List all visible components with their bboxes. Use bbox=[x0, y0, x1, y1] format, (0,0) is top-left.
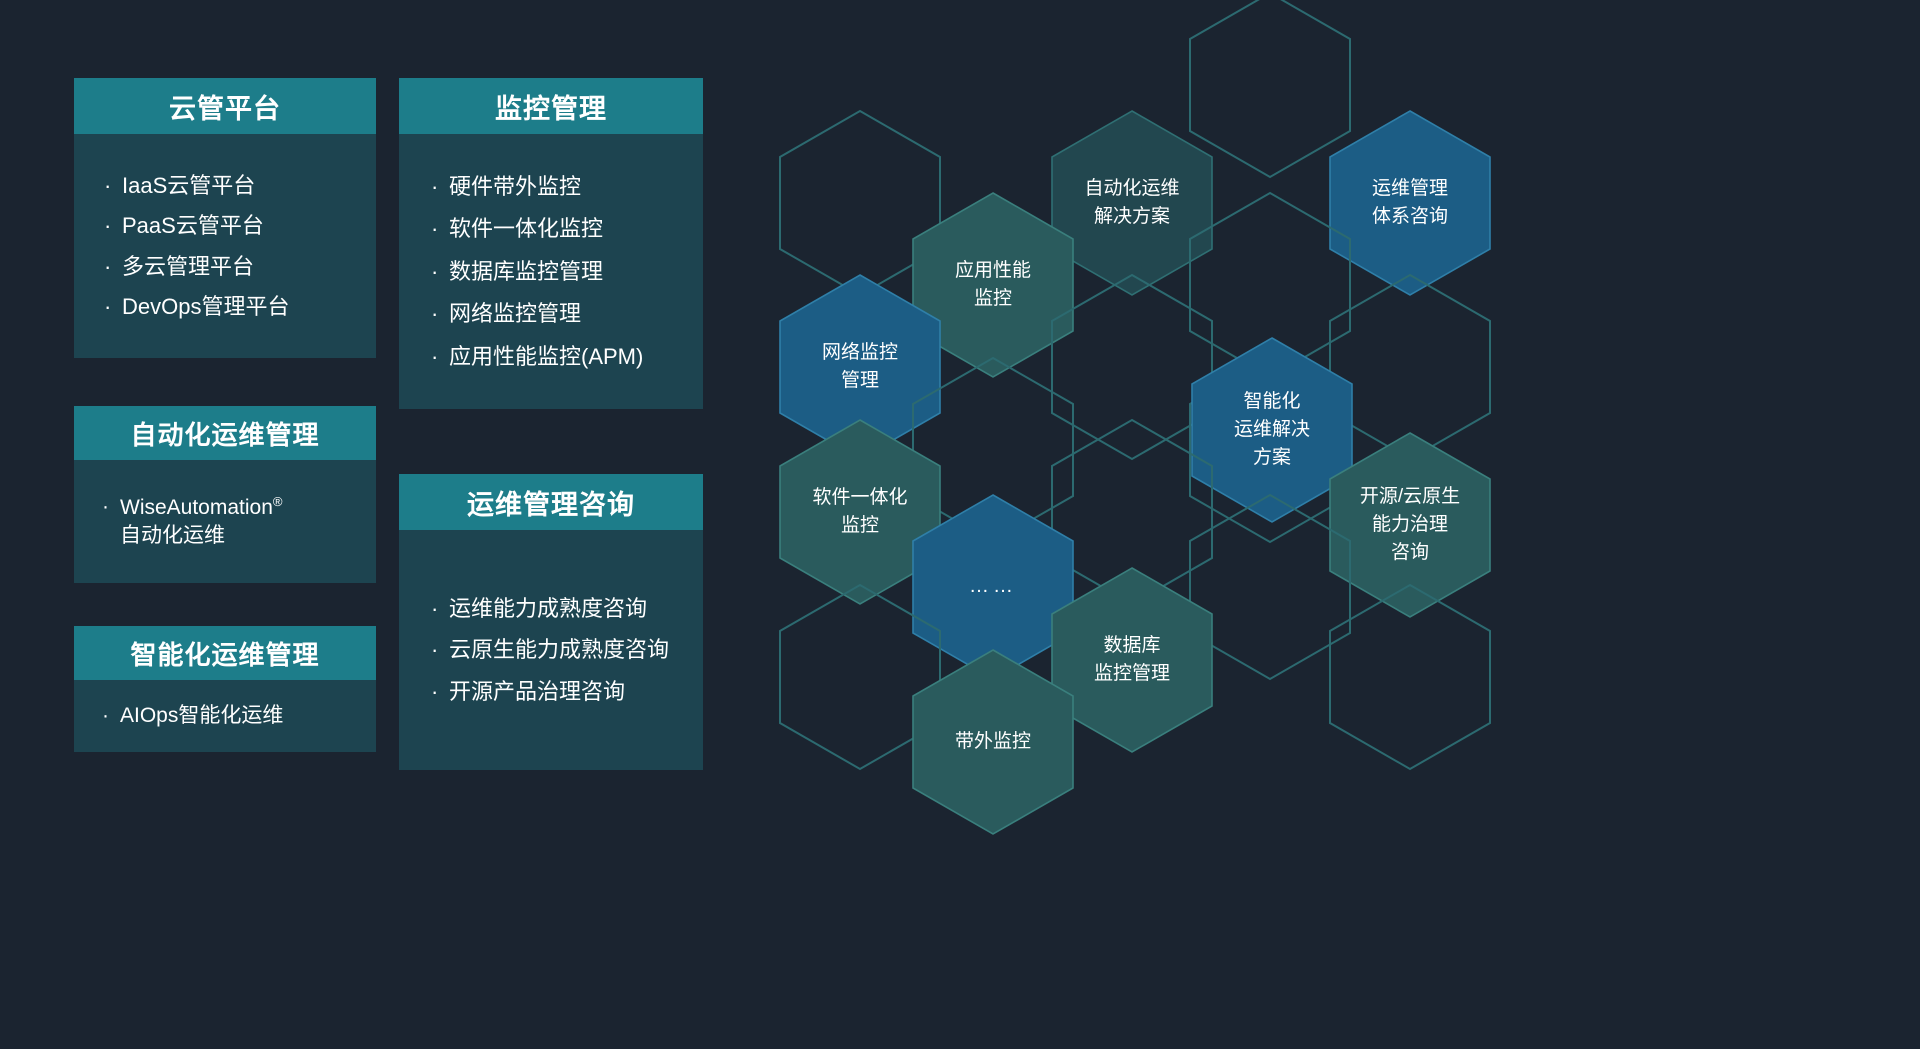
list-item-label: 数据库监控管理 bbox=[449, 259, 603, 284]
hex-empty-top-right bbox=[1190, 0, 1350, 177]
hex-ops-management-consulting[interactable] bbox=[1330, 111, 1490, 295]
card-cloud-platform-body: ·IaaS云管平台 ·PaaS云管平台 ·多云管理平台 ·DevOps管理平台 bbox=[74, 134, 376, 358]
hex-out-of-band-monitor[interactable] bbox=[913, 650, 1073, 834]
hexagon-grid-svg bbox=[760, 0, 1920, 1044]
hex-opensource-consulting[interactable] bbox=[1330, 433, 1490, 617]
list-item: ·云原生能力成熟度咨询 bbox=[427, 635, 689, 664]
card-aiops-management-body: ·AIOps智能化运维 bbox=[74, 680, 376, 752]
hex-database-monitor[interactable] bbox=[1052, 568, 1212, 752]
list-item: ·网络监控管理 bbox=[427, 299, 689, 328]
list-item-label: WiseAutomation bbox=[120, 496, 273, 519]
card-cloud-platform-title: 云管平台 bbox=[74, 78, 376, 134]
list-item: ·PaaS云管平台 bbox=[100, 211, 360, 240]
card-automation-management: 自动化运维管理 · WiseAutomation® 自动化运维 bbox=[74, 406, 376, 583]
registered-trademark-icon: ® bbox=[273, 494, 283, 509]
bullet-icon: · bbox=[431, 594, 438, 623]
card-ops-consulting-body: ·运维能力成熟度咨询 ·云原生能力成熟度咨询 ·开源产品治理咨询 bbox=[399, 530, 703, 770]
hex-automation-solution[interactable] bbox=[1052, 111, 1212, 295]
list-item: ·开源产品治理咨询 bbox=[427, 677, 689, 706]
list-item-label: AIOps智能化运维 bbox=[120, 704, 283, 727]
bullet-icon: · bbox=[431, 172, 438, 201]
list-item-label-line2: 自动化运维 bbox=[120, 524, 225, 547]
list-item: ·多云管理平台 bbox=[100, 252, 360, 281]
list-item-label: 硬件带外监控 bbox=[449, 174, 581, 199]
bullet-icon: · bbox=[431, 677, 438, 706]
bullet-icon: · bbox=[431, 342, 438, 371]
bullet-icon: · bbox=[102, 493, 109, 521]
list-item: ·IaaS云管平台 bbox=[100, 171, 360, 200]
card-automation-management-body: · WiseAutomation® 自动化运维 bbox=[74, 460, 376, 583]
hex-aiops-solution[interactable] bbox=[1192, 338, 1352, 522]
ops-consulting-list: ·运维能力成熟度咨询 ·云原生能力成熟度咨询 ·开源产品治理咨询 bbox=[427, 582, 689, 718]
list-item-label: 运维能力成熟度咨询 bbox=[449, 596, 647, 621]
list-item-label: DevOps管理平台 bbox=[122, 294, 289, 319]
hex-empty-mid-b bbox=[1052, 275, 1212, 459]
list-item: ·硬件带外监控 bbox=[427, 172, 689, 201]
list-item-label: 多云管理平台 bbox=[122, 254, 254, 279]
hex-empty-low-b bbox=[1190, 495, 1350, 679]
card-aiops-management: 智能化运维管理 ·AIOps智能化运维 bbox=[74, 626, 376, 752]
bullet-icon: · bbox=[431, 635, 438, 664]
list-item: ·DevOps管理平台 bbox=[100, 292, 360, 321]
aiops-management-list: ·AIOps智能化运维 bbox=[98, 702, 362, 730]
list-item: ·应用性能监控(APM) bbox=[427, 342, 689, 371]
hexagon-diagram: 自动化运维 解决方案运维管理 体系咨询应用性能 监控网络监控 管理智能化 运维解… bbox=[760, 0, 1920, 1044]
slide-canvas: 云管平台 ·IaaS云管平台 ·PaaS云管平台 ·多云管理平台 ·DevOps… bbox=[0, 0, 1920, 1044]
list-item-label: 软件一体化监控 bbox=[449, 216, 603, 241]
card-automation-management-title: 自动化运维管理 bbox=[74, 406, 376, 460]
hex-empty-mid-c bbox=[1330, 275, 1490, 459]
bullet-icon: · bbox=[431, 214, 438, 243]
list-item-label: IaaS云管平台 bbox=[122, 173, 255, 198]
bullet-icon: · bbox=[102, 702, 109, 730]
bullet-icon: · bbox=[431, 299, 438, 328]
list-item: ·AIOps智能化运维 bbox=[98, 702, 362, 730]
bullet-icon: · bbox=[104, 211, 111, 240]
card-monitoring-management-body: ·硬件带外监控 ·软件一体化监控 ·数据库监控管理 ·网络监控管理 ·应用性能监… bbox=[399, 134, 703, 409]
list-item-label: 应用性能监控(APM) bbox=[449, 344, 643, 369]
bullet-icon: · bbox=[431, 257, 438, 286]
card-cloud-platform: 云管平台 ·IaaS云管平台 ·PaaS云管平台 ·多云管理平台 ·DevOps… bbox=[74, 78, 376, 358]
list-item: ·软件一体化监控 bbox=[427, 214, 689, 243]
list-item: ·数据库监控管理 bbox=[427, 257, 689, 286]
list-item-label: 云原生能力成熟度咨询 bbox=[449, 637, 669, 662]
list-item-label: 开源产品治理咨询 bbox=[449, 679, 625, 704]
list-item: ·运维能力成熟度咨询 bbox=[427, 594, 689, 623]
bullet-icon: · bbox=[104, 171, 111, 200]
card-monitoring-management: 监控管理 ·硬件带外监控 ·软件一体化监控 ·数据库监控管理 ·网络监控管理 ·… bbox=[399, 78, 703, 409]
list-item-label: 网络监控管理 bbox=[449, 301, 581, 326]
card-monitoring-management-title: 监控管理 bbox=[399, 78, 703, 134]
cloud-platform-list: ·IaaS云管平台 ·PaaS云管平台 ·多云管理平台 ·DevOps管理平台 bbox=[100, 160, 360, 333]
card-aiops-management-title: 智能化运维管理 bbox=[74, 626, 376, 680]
automation-management-list: · WiseAutomation® 自动化运维 bbox=[98, 489, 362, 554]
list-item: · WiseAutomation® 自动化运维 bbox=[98, 493, 362, 550]
list-item-label: PaaS云管平台 bbox=[122, 213, 264, 238]
card-ops-consulting-title: 运维管理咨询 bbox=[399, 474, 703, 530]
bullet-icon: · bbox=[104, 292, 111, 321]
bullet-icon: · bbox=[104, 252, 111, 281]
monitoring-management-list: ·硬件带外监控 ·软件一体化监控 ·数据库监控管理 ·网络监控管理 ·应用性能监… bbox=[427, 159, 689, 384]
card-ops-consulting: 运维管理咨询 ·运维能力成熟度咨询 ·云原生能力成熟度咨询 ·开源产品治理咨询 bbox=[399, 474, 703, 770]
